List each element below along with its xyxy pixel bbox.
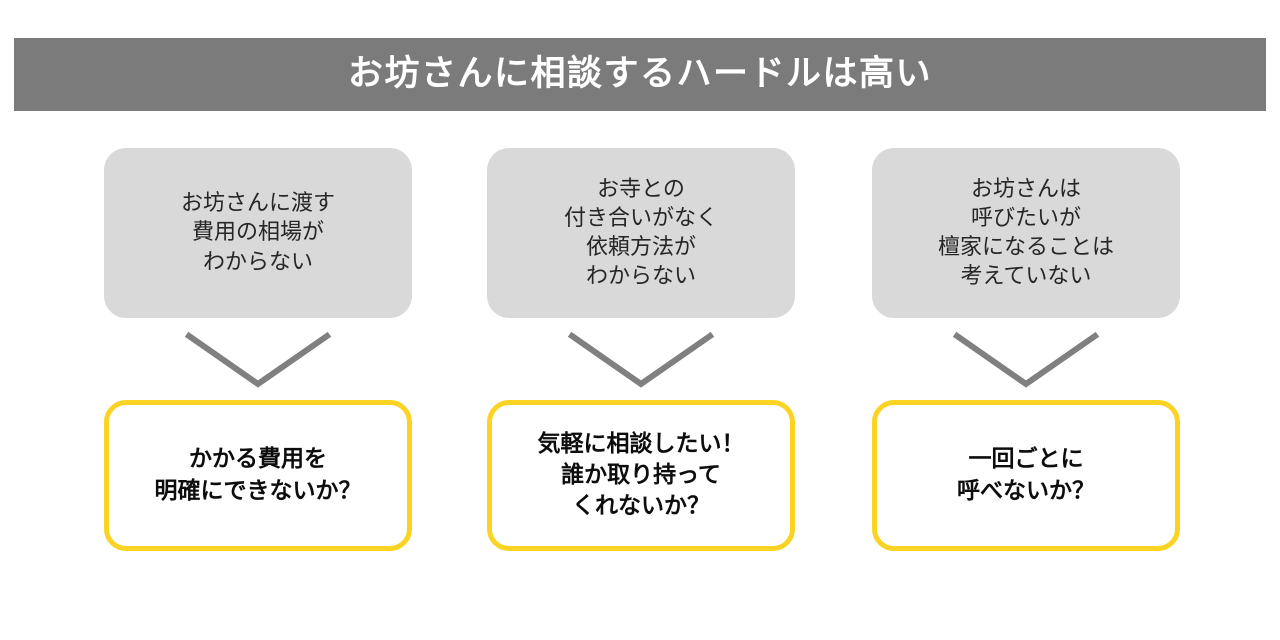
solution-text-2: 気軽に相談したい！ 誰か取り持って くれないか？ [538, 429, 745, 522]
solution-box-3[interactable]: 一回ごとに 呼べないか？ [872, 400, 1180, 551]
page-title: お坊さんに相談するハードルは高い [348, 57, 932, 92]
problem-text-1: お坊さんに渡す 費用の相場が わからない [181, 189, 335, 277]
problem-box-3[interactable]: お坊さんは 呼びたいが 檀家になることは 考えていない [872, 148, 1180, 318]
solution-box-1[interactable]: かかる費用を 明確にできないか？ [104, 400, 412, 551]
chevron-down-icon-2 [566, 330, 716, 390]
column-3: お坊さんは 呼びたいが 檀家になることは 考えていない 一回ごとに 呼べないか？ [872, 148, 1180, 558]
problem-box-2[interactable]: お寺との 付き合いがなく 依頼方法が わからない [487, 148, 795, 318]
chevron-down-icon-1 [183, 330, 333, 390]
title-banner: お坊さんに相談するハードルは高い [14, 38, 1266, 111]
column-1: お坊さんに渡す 費用の相場が わからない かかる費用を 明確にできないか？ [104, 148, 412, 558]
solution-text-3: 一回ごとに 呼べないか？ [957, 444, 1095, 506]
column-2: お寺との 付き合いがなく 依頼方法が わからない 気軽に相談したい！ 誰か取り持… [487, 148, 795, 558]
chevron-down-icon-3 [951, 330, 1101, 390]
solution-box-2[interactable]: 気軽に相談したい！ 誰か取り持って くれないか？ [487, 400, 795, 551]
problem-text-2: お寺との 付き合いがなく 依頼方法が わからない [564, 175, 718, 292]
solution-text-1: かかる費用を 明確にできないか？ [155, 444, 362, 506]
slide-canvas: お坊さんに相談するハードルは高い お坊さんに渡す 費用の相場が わからない かか… [0, 0, 1280, 640]
problem-text-3: お坊さんは 呼びたいが 檀家になることは 考えていない [938, 175, 1114, 292]
problem-box-1[interactable]: お坊さんに渡す 費用の相場が わからない [104, 148, 412, 318]
